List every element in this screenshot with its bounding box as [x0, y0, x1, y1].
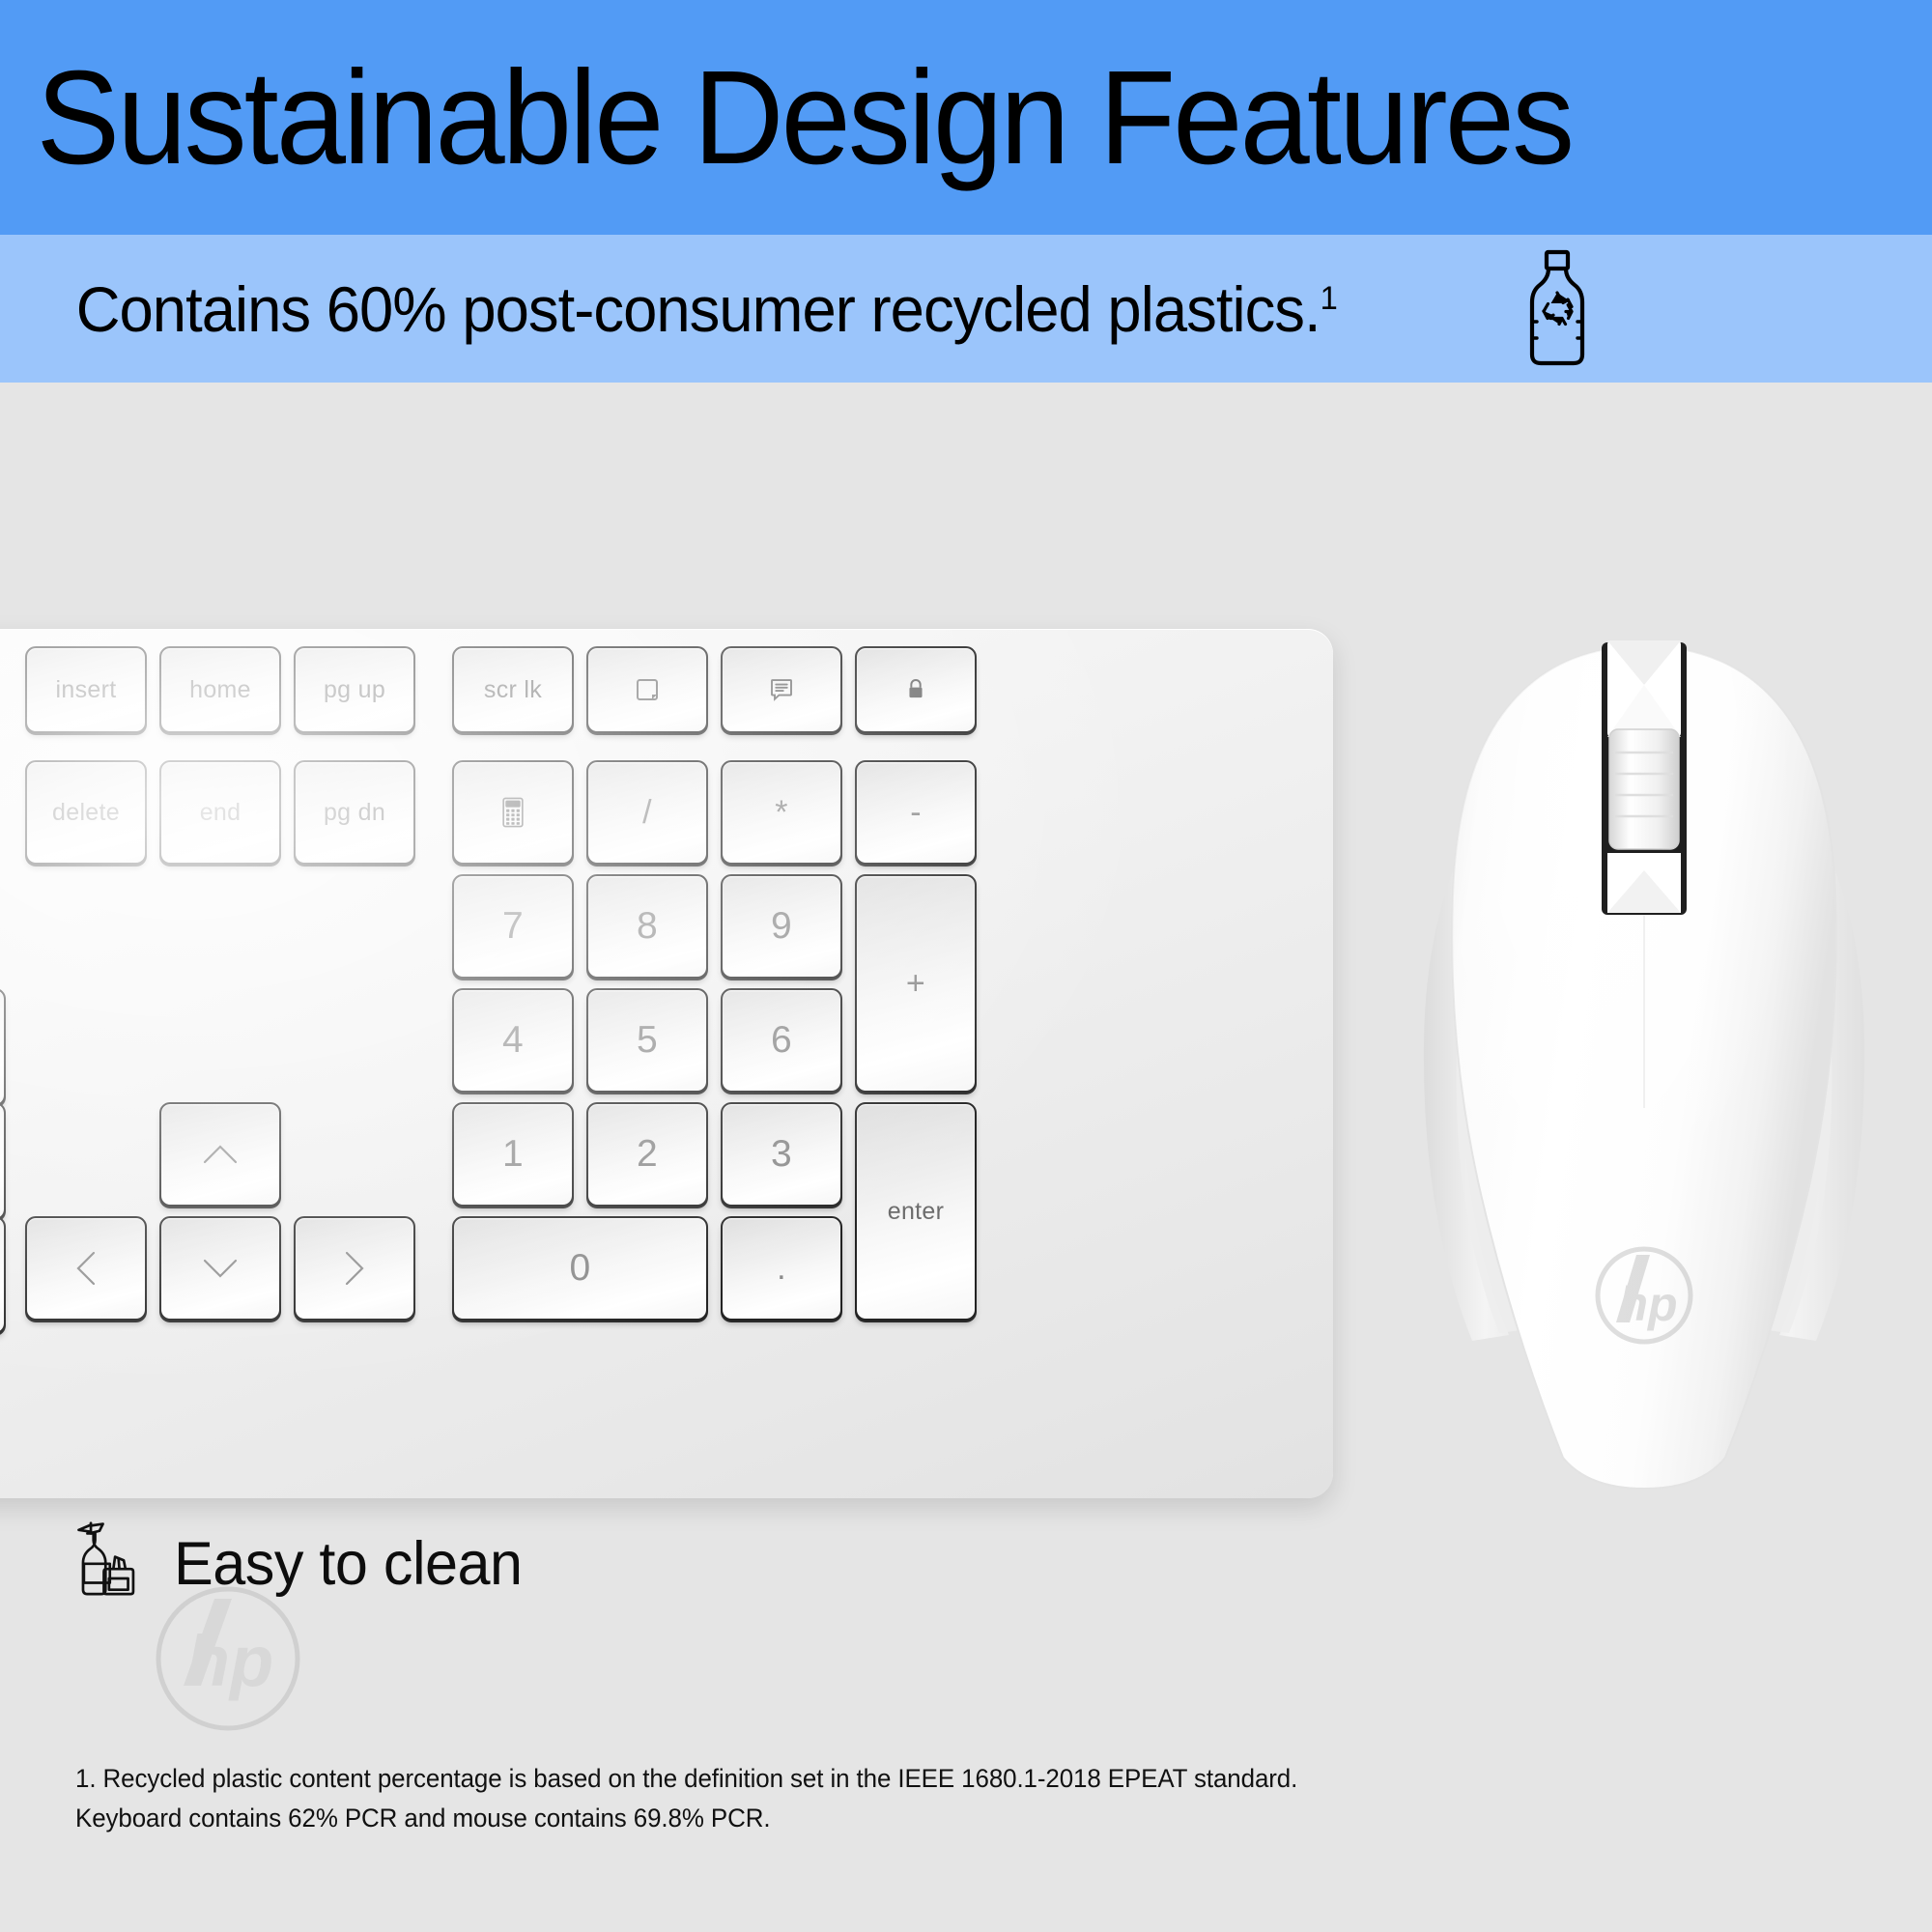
hp-wireless-keyboard[interactable]: oinserthomepg upscr lk+=backspacedeletee…	[0, 629, 1333, 1498]
spray-bottle-icon	[58, 1520, 141, 1608]
key-legend: 0	[570, 1247, 591, 1290]
lock-icon	[902, 675, 929, 704]
key-legend: -	[910, 794, 922, 832]
key-3[interactable]: 3	[723, 1104, 840, 1205]
footnote: 1. Recycled plastic content percentage i…	[75, 1759, 1791, 1838]
key-legend: insert	[56, 676, 117, 704]
key-legend: scr lk	[484, 676, 542, 704]
key-legend: end	[200, 799, 241, 827]
key-up-arrow-icon[interactable]	[161, 1104, 279, 1205]
key-8[interactable]: 8	[588, 876, 706, 977]
key-message-icon[interactable]	[723, 648, 840, 731]
key-legend: 3	[771, 1133, 792, 1176]
up-arrow-icon	[201, 1142, 240, 1167]
key-legend: /	[642, 794, 652, 832]
key-pg-dn[interactable]: pg dn	[296, 762, 413, 863]
key-legend: delete	[52, 799, 120, 827]
key-legend: 7	[502, 905, 524, 948]
calculator-icon	[500, 797, 526, 828]
key-5[interactable]: 5	[588, 990, 706, 1091]
down-arrow-icon	[201, 1256, 240, 1281]
svg-text:hp: hp	[186, 1621, 273, 1701]
key-right-arrow-icon[interactable]	[296, 1218, 413, 1319]
footnote-line-1: 1. Recycled plastic content percentage i…	[75, 1759, 1791, 1799]
key-legend: pg up	[324, 676, 385, 704]
key--[interactable]: *	[723, 762, 840, 863]
key-scr-lk[interactable]: scr lk	[454, 648, 572, 731]
key-legend: 4	[502, 1019, 524, 1062]
key--[interactable]: +	[857, 876, 975, 1091]
key-legend: 8	[637, 905, 658, 948]
key-0[interactable]: 0	[454, 1218, 706, 1319]
page-title: Sustainable Design Features	[0, 51, 1572, 185]
key-legend: 6	[771, 1019, 792, 1062]
key-lock-icon[interactable]	[857, 648, 975, 731]
key-6[interactable]: 6	[723, 990, 840, 1091]
key-shift[interactable]: shift	[0, 1104, 4, 1218]
key-7[interactable]: 7	[454, 876, 572, 977]
key-left-arrow-icon[interactable]	[27, 1218, 145, 1319]
key-2[interactable]: 2	[588, 1104, 706, 1205]
key--[interactable]: /	[588, 762, 706, 863]
key-delete[interactable]: delete	[27, 762, 145, 863]
key-1[interactable]: 1	[454, 1104, 572, 1205]
footnote-marker: 1	[1321, 280, 1338, 317]
key-screen-icon[interactable]	[588, 648, 706, 731]
key-legend: 2	[637, 1133, 658, 1176]
subtitle-label: Contains 60% post-consumer recycled plas…	[76, 273, 1321, 345]
key-legend: *	[775, 794, 788, 832]
key--[interactable]: -	[857, 762, 975, 863]
message-icon	[767, 675, 796, 704]
key-legend: .	[777, 1250, 786, 1288]
key-ctrl[interactable]: ctrl	[0, 1218, 4, 1332]
screen-icon	[633, 675, 662, 704]
key-legend: enter	[888, 1198, 944, 1226]
key-9[interactable]: 9	[723, 876, 840, 977]
key-legend: +	[906, 965, 925, 1003]
svg-text:hp: hp	[1618, 1277, 1677, 1331]
product-stage: oinserthomepg upscr lk+=backspacedeletee…	[0, 383, 1932, 1932]
easy-to-clean-label: Easy to clean	[174, 1534, 523, 1595]
key--[interactable]: .	[723, 1218, 840, 1319]
footnote-line-2: Keyboard contains 62% PCR and mouse cont…	[75, 1799, 1791, 1838]
key-pg-up[interactable]: pg up	[296, 648, 413, 731]
key-legend: pg dn	[324, 799, 385, 827]
title-band: Sustainable Design Features	[0, 0, 1932, 235]
subtitle-band: Contains 60% post-consumer recycled plas…	[0, 235, 1932, 383]
hp-wireless-mouse[interactable]: hp	[1403, 629, 1886, 1498]
recycled-bottle-icon	[1519, 249, 1596, 369]
key-insert[interactable]: insert	[27, 648, 145, 731]
key-enter[interactable]: enter	[857, 1104, 975, 1319]
key-legend: 9	[771, 905, 792, 948]
easy-to-clean-feature: Easy to clean	[58, 1520, 533, 1608]
left-arrow-icon	[73, 1249, 99, 1288]
key-4[interactable]: 4	[454, 990, 572, 1091]
right-arrow-icon	[342, 1249, 367, 1288]
key-legend: home	[189, 676, 251, 704]
key-legend: 5	[637, 1019, 658, 1062]
key-end[interactable]: end	[161, 762, 279, 863]
subtitle-text: Contains 60% post-consumer recycled plas…	[0, 277, 1338, 341]
key-home[interactable]: home	[161, 648, 279, 731]
key-calculator-icon[interactable]	[454, 762, 572, 863]
key-down-arrow-icon[interactable]	[161, 1218, 279, 1319]
key-enter[interactable]: enter	[0, 990, 4, 1104]
key-legend: 1	[502, 1133, 524, 1176]
